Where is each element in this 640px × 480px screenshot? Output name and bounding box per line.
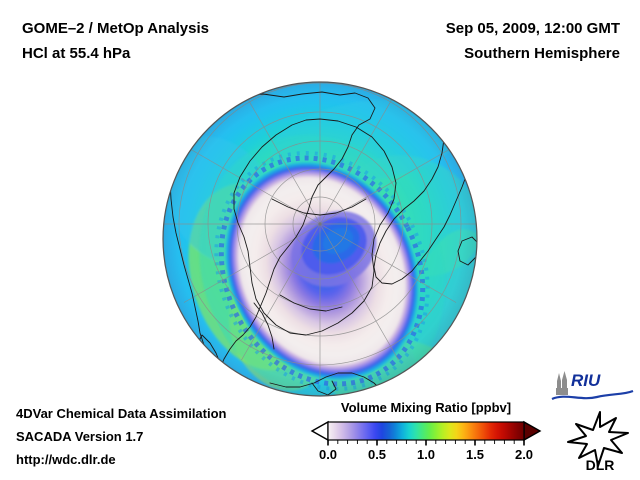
colorbar-tick-label: 2.0 xyxy=(515,447,533,462)
footer-credits: 4DVar Chemical Data Assimilation SACADA … xyxy=(16,402,227,471)
colorbar-title: Volume Mixing Ratio [ppbv] xyxy=(310,400,542,415)
page-subtitle: HCl at 55.4 hPa xyxy=(22,41,209,66)
colorbar-tick-label: 1.5 xyxy=(466,447,484,462)
coastline-tierra-del-fuego xyxy=(208,389,224,397)
header-left: GOME–2 / MetOp Analysis HCl at 55.4 hPa xyxy=(22,16,209,66)
globe-map xyxy=(162,81,478,397)
colorbar-tick-label: 1.0 xyxy=(417,447,435,462)
coastline-new-zealand-south xyxy=(216,369,236,387)
datetime-label: Sep 05, 2009, 12:00 GMT xyxy=(446,16,620,41)
footer-line-method: 4DVar Chemical Data Assimilation xyxy=(16,402,227,425)
region-label: Southern Hemisphere xyxy=(446,41,620,66)
colorbar-extend-max xyxy=(524,422,540,440)
footer-line-url[interactable]: http://wdc.dlr.de xyxy=(16,448,227,471)
dlr-wordmark: DLR xyxy=(586,457,615,472)
footer-line-version: SACADA Version 1.7 xyxy=(16,425,227,448)
colorbar-extend-min xyxy=(312,422,328,440)
page-title: GOME–2 / MetOp Analysis xyxy=(22,16,209,41)
colorbar: Volume Mixing Ratio [ppbv] 0.00.51.01.52… xyxy=(310,400,542,465)
riu-wordmark: RIU xyxy=(571,371,601,390)
riu-logo: RIU xyxy=(551,369,635,403)
header-right: Sep 05, 2009, 12:00 GMT Southern Hemisph… xyxy=(446,16,620,66)
colorbar-scale xyxy=(310,420,542,446)
colorbar-tick-labels: 0.00.51.01.52.0 xyxy=(310,447,542,465)
cathedral-icon xyxy=(556,371,568,395)
colorbar-tick-label: 0.0 xyxy=(319,447,337,462)
colorbar-tick-label: 0.5 xyxy=(368,447,386,462)
colorbar-ticks xyxy=(328,440,524,446)
colorbar-gradient xyxy=(328,422,524,440)
dlr-logo: DLR xyxy=(566,410,634,472)
